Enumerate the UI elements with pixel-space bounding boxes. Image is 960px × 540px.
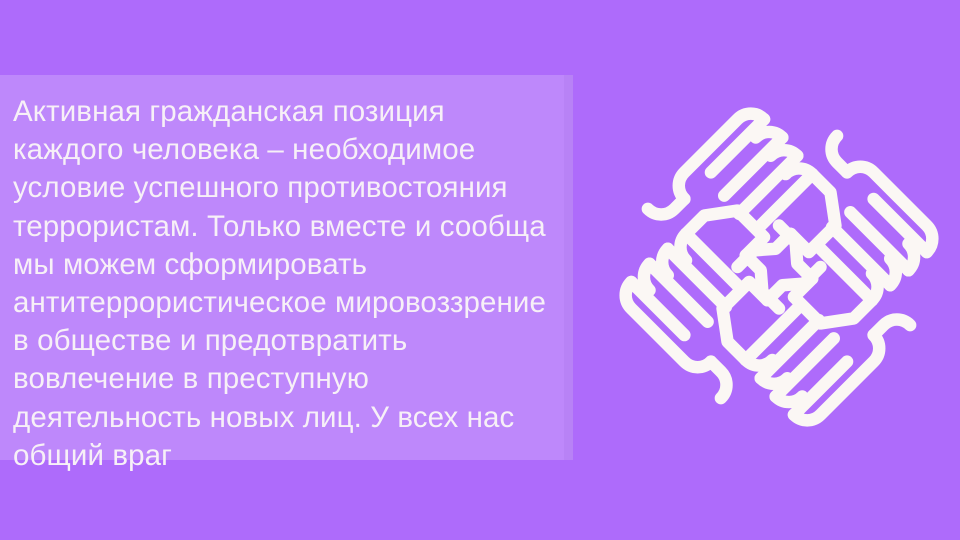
four-hands-united-icon bbox=[613, 101, 945, 433]
slide-canvas: Активная гражданская позиция каждого чел… bbox=[0, 0, 960, 540]
quote-panel: Активная гражданская позиция каждого чел… bbox=[0, 75, 573, 460]
quote-text: Активная гражданская позиция каждого чел… bbox=[13, 93, 557, 475]
